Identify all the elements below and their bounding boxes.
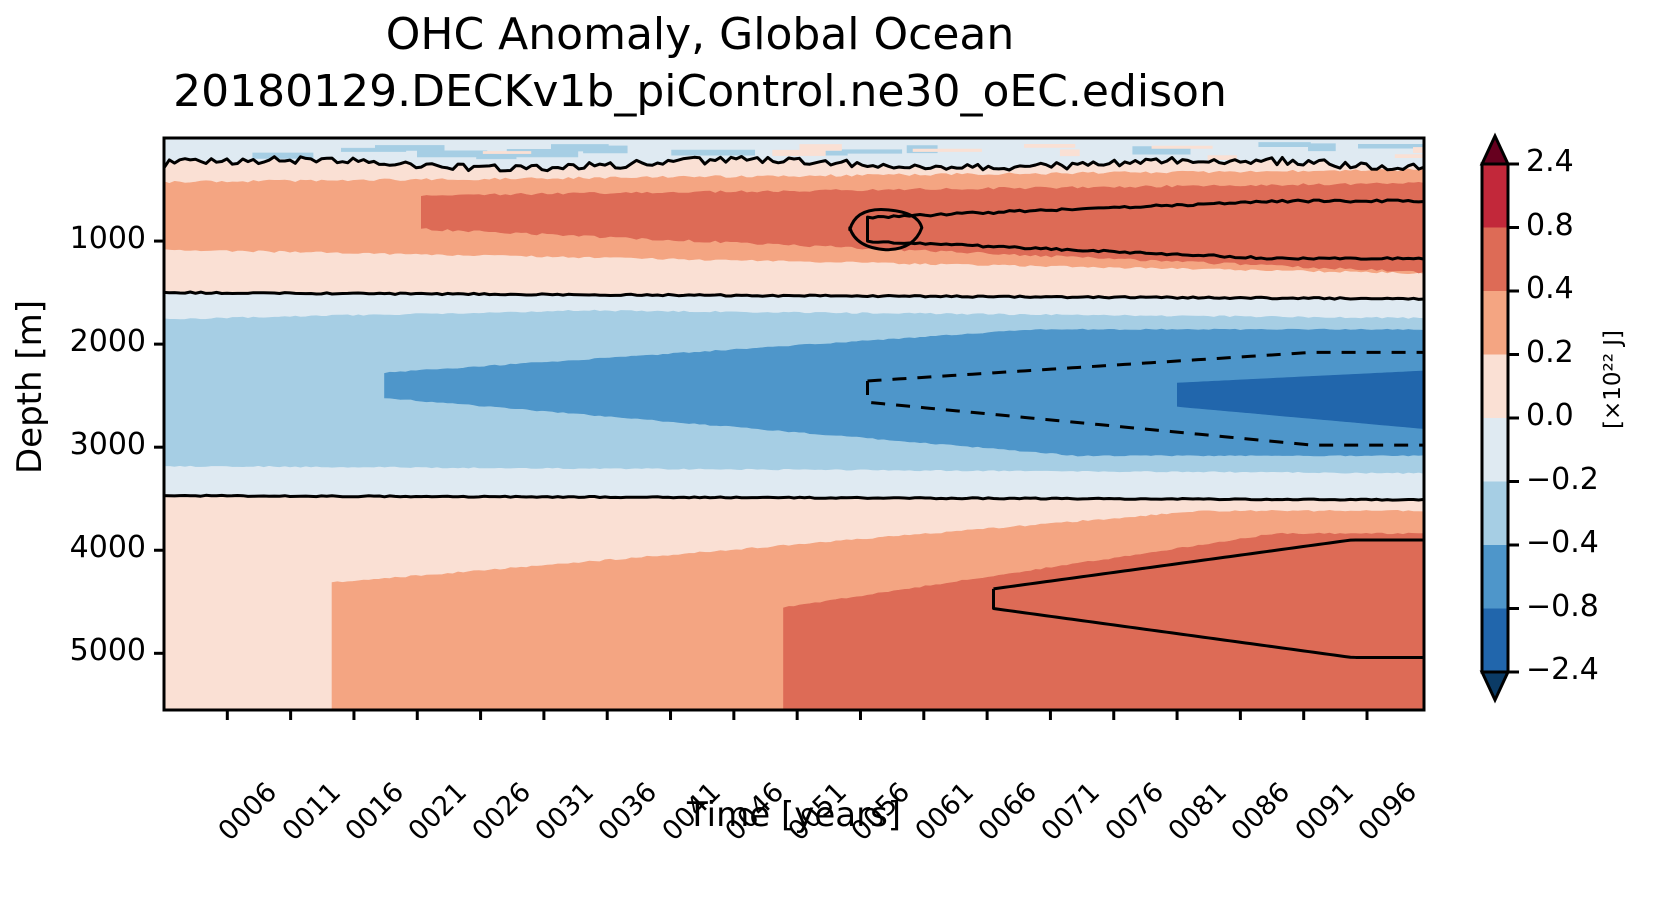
colorbar-band bbox=[1482, 418, 1508, 482]
colorbar-band bbox=[1482, 545, 1508, 609]
contour-fills bbox=[164, 134, 1482, 715]
contour-band bbox=[1358, 144, 1438, 148]
contour-band bbox=[842, 150, 902, 154]
colorbar-band bbox=[1482, 482, 1508, 546]
contour-band bbox=[341, 148, 405, 151]
colorbar-band bbox=[1482, 609, 1508, 673]
colorbar-band bbox=[1482, 164, 1508, 228]
contour-band bbox=[672, 150, 755, 155]
contour-plot-area bbox=[0, 0, 1664, 910]
contour-band bbox=[800, 144, 842, 150]
contour-band bbox=[417, 151, 487, 157]
contour-band bbox=[773, 150, 826, 155]
colorbar-band bbox=[1482, 355, 1508, 419]
colorbar-extend-max-arrow bbox=[1482, 136, 1508, 164]
colorbar[interactable] bbox=[1482, 136, 1519, 700]
contour-band bbox=[1060, 150, 1079, 156]
colorbar-band bbox=[1482, 291, 1508, 355]
contour-band bbox=[1308, 144, 1335, 151]
contour-band bbox=[913, 149, 982, 152]
contour-band bbox=[483, 151, 531, 153]
colorbar-band bbox=[1482, 228, 1508, 292]
contour-band bbox=[1152, 146, 1212, 148]
contour-band bbox=[1259, 142, 1311, 146]
ohc-anomaly-figure: OHC Anomaly, Global Ocean 20180129.DECKv… bbox=[0, 0, 1664, 910]
contour-band bbox=[1024, 144, 1075, 147]
colorbar-extend-min-arrow bbox=[1482, 672, 1508, 700]
